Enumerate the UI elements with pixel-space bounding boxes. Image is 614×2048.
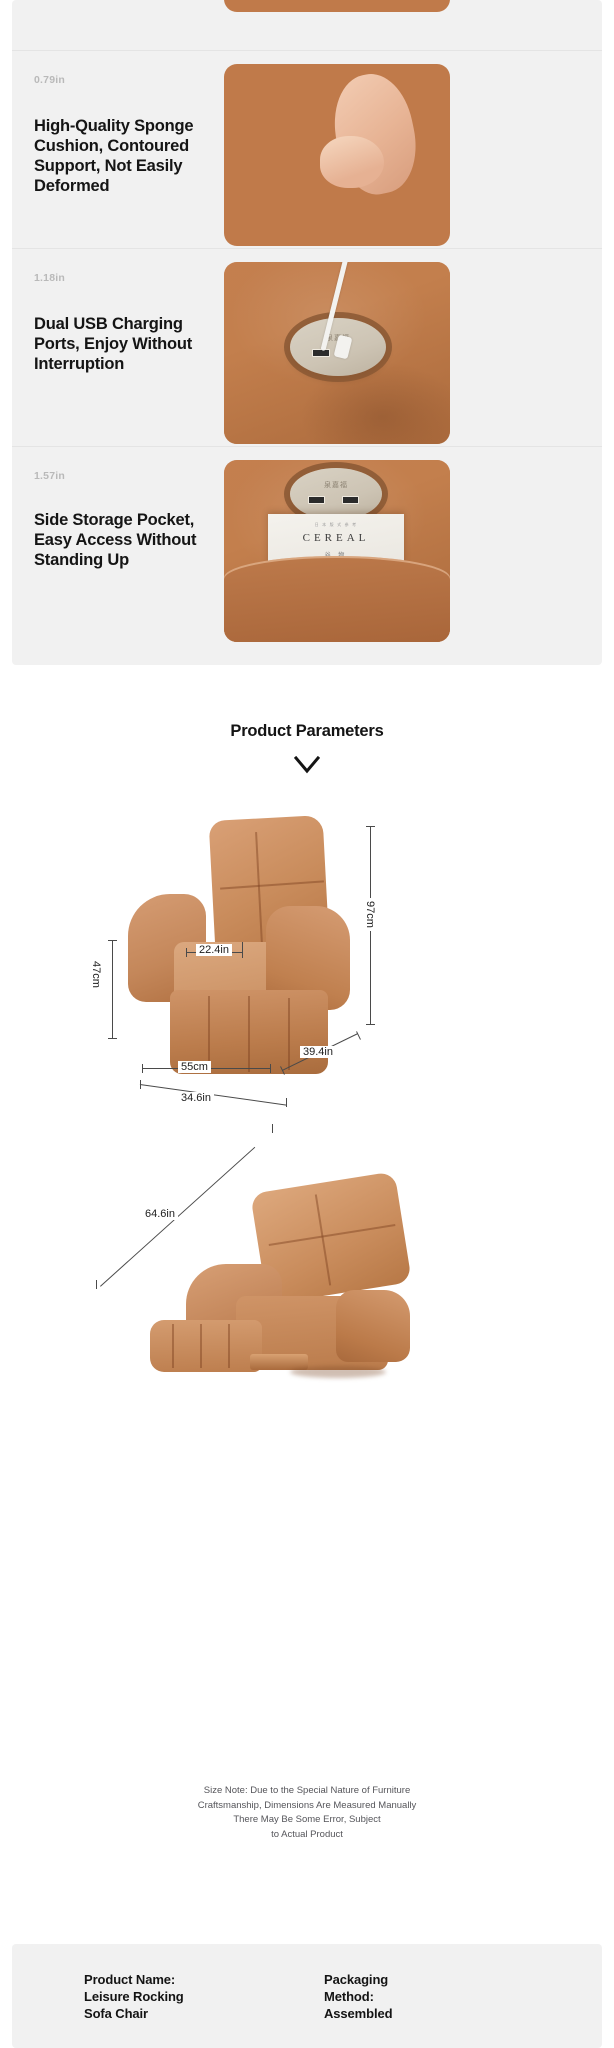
dim-tick [108, 1038, 117, 1039]
dimension-diagram-reclined: 64.6in [0, 1128, 614, 1408]
product-name-value-line2: Sofa Chair [84, 2006, 274, 2023]
chair-illustration-front [128, 818, 350, 1080]
dim-tick [356, 1031, 361, 1040]
magazine-imprint: 日 本 版 式 参 考 [268, 522, 404, 528]
feature-row-usb: 1.18in Dual USB Charging Ports, Enjoy Wi… [12, 250, 602, 446]
dim-tick [272, 1124, 273, 1133]
size-note-line: Craftsmanship, Dimensions Are Measured M… [0, 1799, 614, 1814]
product-info-panel: Product Name: Leisure Rocking Sofa Chair… [12, 1944, 602, 2048]
page-title: Product Parameters [0, 722, 614, 741]
feature-row-pocket: 1.57in Side Storage Pocket, Easy Access … [12, 448, 602, 644]
feature-image-pocket: 泉嘉福 日 本 版 式 参 考 CEREAL 谷 物 谷 物 杂 志 [224, 460, 450, 642]
row-divider [12, 50, 602, 51]
feature-row-partial [12, 0, 602, 52]
magazine-title: CEREAL [268, 532, 404, 544]
size-note-line: There May Be Some Error, Subject [0, 1813, 614, 1828]
feature-title: Side Storage Pocket, Easy Access Without… [34, 510, 220, 570]
packaging-method-block: Packaging Method: Assembled [324, 1972, 514, 2023]
dim-label-width: 55cm [178, 1061, 211, 1073]
size-note: Size Note: Due to the Special Nature of … [0, 1784, 614, 1843]
dim-label-seat-height: 47cm [90, 958, 102, 991]
chevron-down-icon [0, 756, 614, 780]
usb-port-icon [308, 496, 325, 504]
measurement-badge: 1.57in [34, 470, 65, 482]
dim-tick [366, 1024, 375, 1025]
feature-title: High-Quality Sponge Cushion, Contoured S… [34, 116, 220, 197]
measurement-badge: 1.18in [34, 272, 65, 284]
dim-label-overall-width: 34.6in [178, 1092, 214, 1104]
feature-row-cushion: 0.79in High-Quality Sponge Cushion, Cont… [12, 52, 602, 248]
features-panel: 0.79in High-Quality Sponge Cushion, Cont… [12, 0, 602, 665]
dimension-overall-width: 34.6in [0, 1080, 614, 1120]
measurement-badge: 0.79in [34, 74, 65, 86]
dim-tick [270, 1064, 271, 1073]
dim-label-depth: 39.4in [300, 1046, 336, 1058]
dim-label-seat-width: 22.4in [196, 944, 232, 956]
packaging-value: Assembled [324, 2006, 514, 2023]
dim-tick [96, 1280, 97, 1289]
dim-line-seat-height [112, 940, 113, 1038]
feature-image-cushion [224, 64, 450, 246]
dimension-diagram-front: 97cm 47cm 22.4in 55cm 39.4in [0, 800, 614, 1120]
usb-port-icon [342, 496, 359, 504]
product-name-value-line1: Leisure Rocking [84, 1989, 274, 2006]
dim-tick [242, 942, 243, 958]
product-name-label: Product Name: [84, 1972, 274, 1989]
row-divider [12, 446, 602, 447]
feature-image-partial [224, 0, 450, 12]
feature-title: Dual USB Charging Ports, Enjoy Without I… [34, 314, 220, 374]
dim-tick [140, 1080, 141, 1089]
product-detail-page: 0.79in High-Quality Sponge Cushion, Cont… [0, 0, 614, 2048]
usb-plate: 泉嘉福 [290, 468, 382, 520]
row-divider [12, 248, 602, 249]
storage-pocket [224, 556, 450, 642]
size-note-line: to Actual Product [0, 1828, 614, 1843]
size-note-line: Size Note: Due to the Special Nature of … [0, 1784, 614, 1799]
dim-label-height: 97cm [364, 898, 376, 931]
dim-tick [186, 948, 187, 957]
dim-tick [142, 1064, 143, 1073]
plate-brand-text: 泉嘉福 [290, 480, 382, 490]
dim-tick [286, 1098, 287, 1107]
chair-illustration-reclined [150, 1168, 410, 1382]
dim-tick [108, 940, 117, 941]
dim-tick [366, 826, 375, 827]
packaging-label-line2: Method: [324, 1989, 514, 2006]
feature-image-usb: 泉嘉福 [224, 262, 450, 444]
packaging-label-line1: Packaging [324, 1972, 514, 1989]
product-name-block: Product Name: Leisure Rocking Sofa Chair [84, 1972, 274, 2023]
